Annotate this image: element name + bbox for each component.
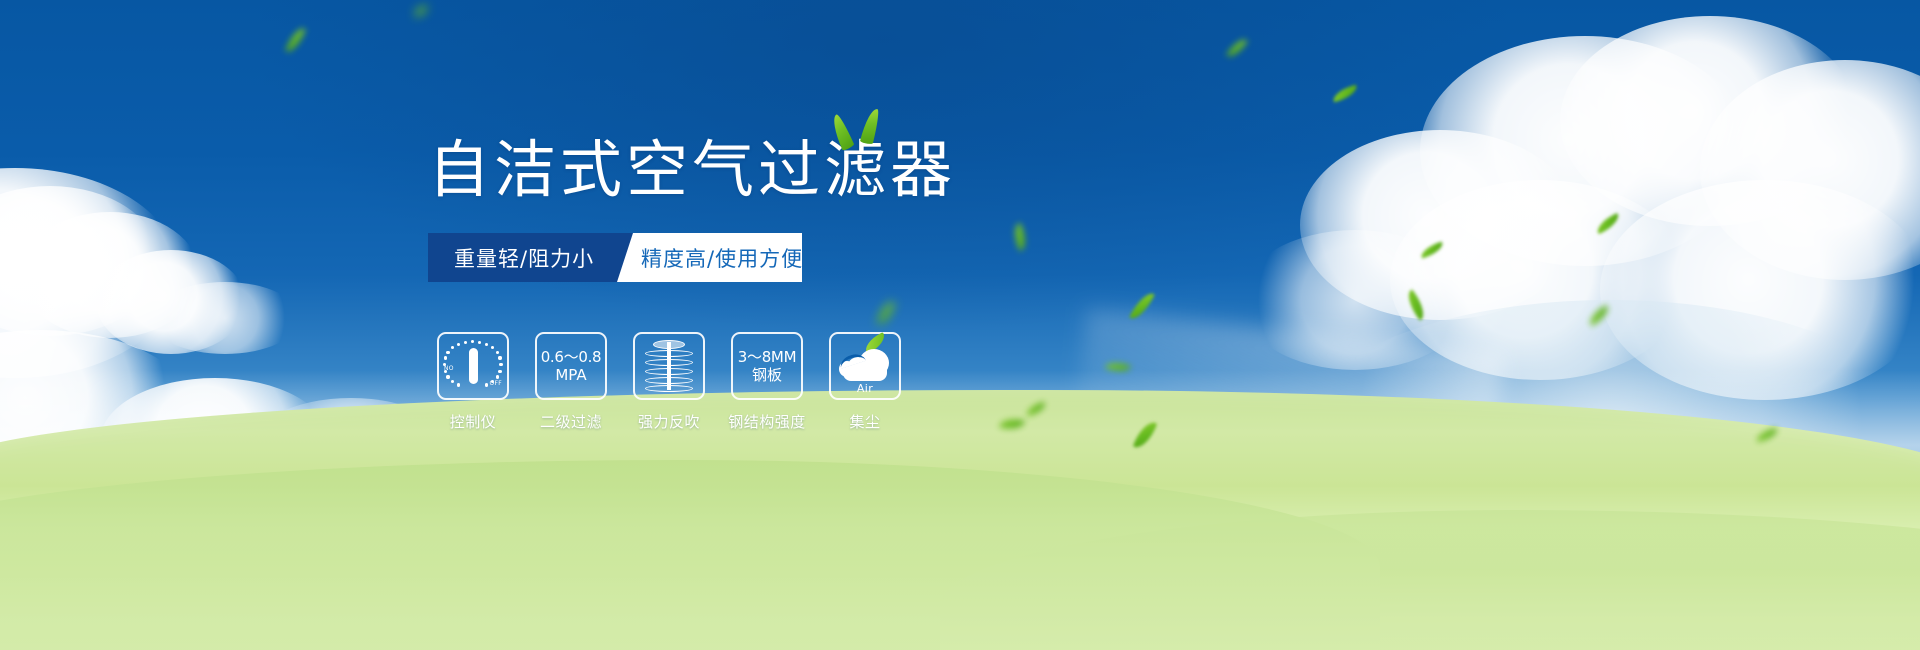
feature-icon-row: NO OFF 控制仪 0.6～0.8 MPA 二级过滤 — [437, 332, 901, 432]
feature-item-dust-collection[interactable]: Air 集尘 — [829, 332, 901, 432]
gauge-icon: NO OFF — [443, 338, 503, 394]
sprout-leaf-left — [828, 113, 855, 151]
feature-item-backblow[interactable]: 强力反吹 — [633, 332, 705, 432]
feature-item-control-gauge[interactable]: NO OFF 控制仪 — [437, 332, 509, 432]
pressure-value-text: 0.6～0.8 MPA — [541, 348, 602, 384]
feature-label: 集尘 — [849, 411, 880, 432]
tagline-bar: 重量轻/阻力小 精度高/使用方便 — [428, 233, 818, 282]
feature-icon-box: Air — [829, 332, 901, 400]
gauge-label-no: NO — [444, 365, 454, 372]
feature-label: 二级过滤 — [540, 411, 602, 432]
pressure-range: 0.6～0.8 — [541, 348, 602, 366]
title-sprout-leaves-icon — [833, 108, 893, 148]
feature-icon-box: 0.6～0.8 MPA — [535, 332, 607, 400]
feature-icon-box — [633, 332, 705, 400]
cloud-air-icon: Air — [837, 341, 893, 391]
hero-banner: 自洁式空气过滤器 重量轻/阻力小 精度高/使用方便 — [0, 0, 1920, 650]
sprout-leaf-right — [860, 107, 881, 145]
cloud-base — [843, 367, 887, 381]
steel-thickness: 3～8MM — [738, 348, 796, 366]
filter-stack-icon — [645, 340, 693, 392]
steel-value-text: 3～8MM 钢板 — [738, 348, 796, 384]
tagline-primary: 重量轻/阻力小 — [428, 233, 633, 282]
air-label: Air — [837, 382, 893, 395]
feature-label: 强力反吹 — [638, 411, 700, 432]
filter-cap — [653, 340, 685, 349]
banner-content: 自洁式空气过滤器 重量轻/阻力小 精度高/使用方便 — [0, 0, 1920, 650]
steel-material: 钢板 — [738, 366, 796, 384]
tagline-secondary: 精度高/使用方便 — [617, 233, 802, 282]
feature-item-pressure[interactable]: 0.6～0.8 MPA 二级过滤 — [535, 332, 607, 432]
gauge-label-off: OFF — [489, 380, 502, 387]
feature-item-steel-strength[interactable]: 3～8MM 钢板 钢结构强度 — [731, 332, 803, 432]
feature-icon-box: NO OFF — [437, 332, 509, 400]
feature-label: 钢结构强度 — [728, 411, 806, 432]
feature-icon-box: 3～8MM 钢板 — [731, 332, 803, 400]
pressure-unit: MPA — [541, 366, 602, 384]
gauge-needle — [469, 348, 478, 384]
feature-label: 控制仪 — [450, 411, 497, 432]
